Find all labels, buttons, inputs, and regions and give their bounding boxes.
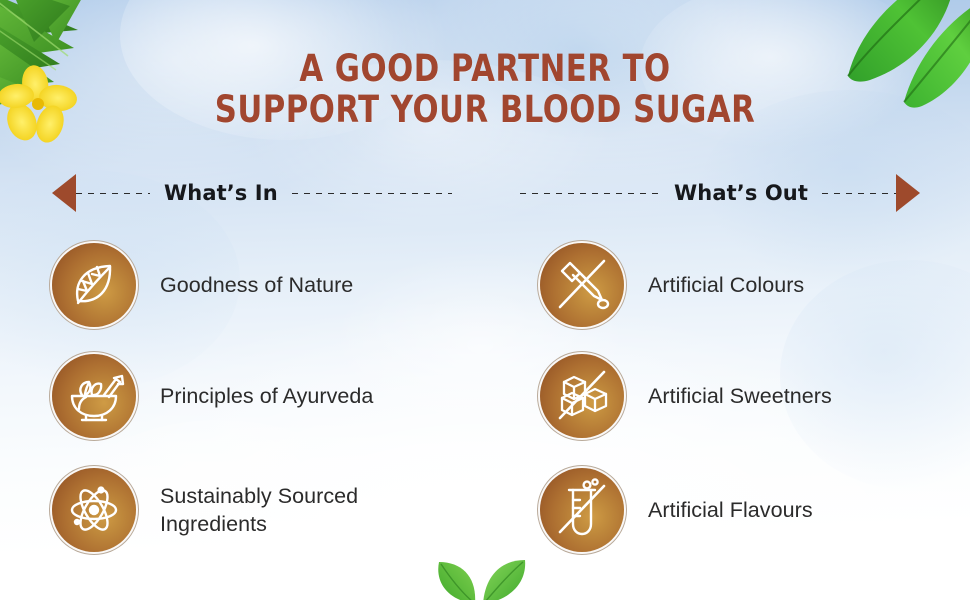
list-item: Artificial Colours: [540, 243, 970, 327]
no-sugar-cubes-icon: [540, 354, 624, 438]
list-item-label: Artificial Colours: [648, 271, 804, 299]
list-item-label: Principles of Ayurveda: [160, 382, 373, 410]
dashed-rule: [76, 193, 150, 194]
title-line-1: A GOOD PARTNER TO: [82, 48, 887, 89]
list-item: Artificial Flavours: [540, 468, 970, 552]
list-item: Principles of Ayurveda: [52, 354, 482, 438]
whats-in-header: What’s In: [52, 176, 452, 210]
infographic-banner: A GOOD PARTNER TO SUPPORT YOUR BLOOD SUG…: [0, 0, 970, 600]
list-item: Sustainably Sourced Ingredients: [52, 468, 482, 552]
whats-out-label: What’s Out: [660, 181, 822, 205]
list-item-label: Artificial Sweetners: [648, 382, 832, 410]
list-item-label: Sustainably Sourced Ingredients: [160, 482, 358, 538]
atom-icon: [52, 468, 136, 552]
list-item: Goodness of Nature: [52, 243, 482, 327]
dashed-rule: [292, 193, 452, 194]
list-item-label: Artificial Flavours: [648, 496, 813, 524]
green-sprout-decoration: [425, 548, 535, 600]
list-item-label: Goodness of Nature: [160, 271, 353, 299]
arrow-right-icon: [896, 174, 920, 212]
dashed-rule: [520, 193, 660, 194]
list-item: Artificial Sweetners: [540, 354, 970, 438]
no-test-tube-icon: [540, 468, 624, 552]
leaf-icon: [52, 243, 136, 327]
dashed-rule: [822, 193, 896, 194]
arrow-left-icon: [52, 174, 76, 212]
title-line-2: SUPPORT YOUR BLOOD SUGAR: [82, 89, 887, 130]
whats-in-label: What’s In: [150, 181, 292, 205]
no-dropper-icon: [540, 243, 624, 327]
whats-out-header: What’s Out: [520, 176, 920, 210]
mortar-pestle-icon: [52, 354, 136, 438]
page-title: A GOOD PARTNER TO SUPPORT YOUR BLOOD SUG…: [82, 48, 887, 130]
